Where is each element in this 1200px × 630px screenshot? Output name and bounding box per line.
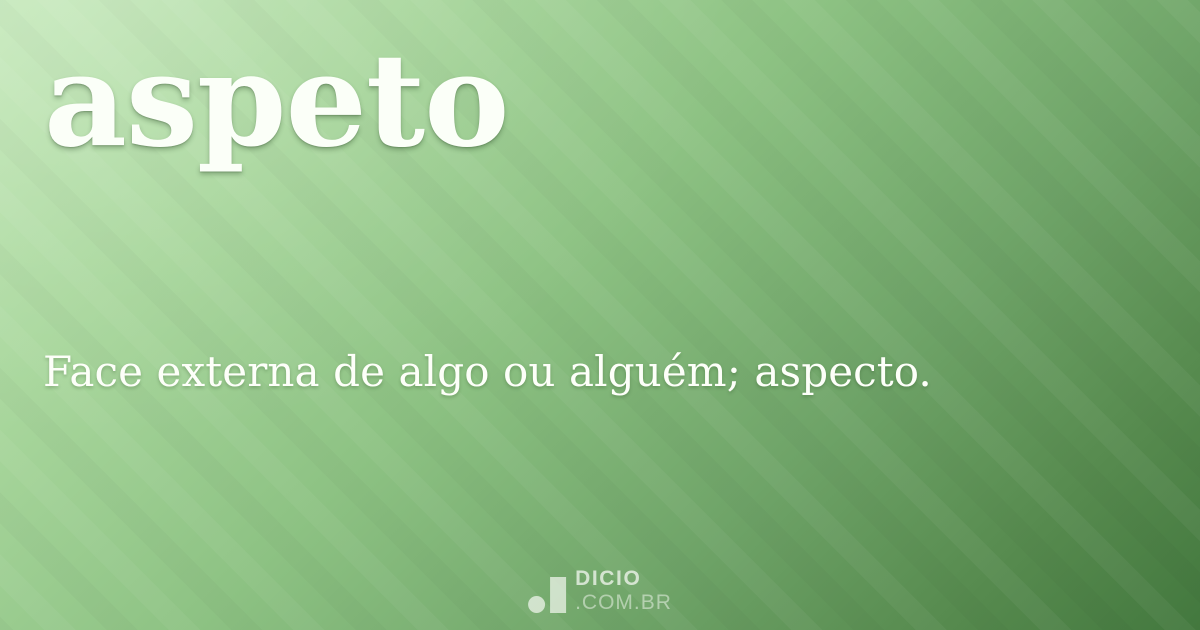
card-content: aspeto Face externa de algo ou alguém; a…	[0, 0, 1200, 630]
dicio-logo: DICIO .COM.BR	[528, 568, 672, 615]
word-title: aspeto	[44, 30, 508, 173]
word-definition: Face externa de algo ou alguém; aspecto.	[43, 346, 932, 399]
bar-icon	[550, 577, 566, 613]
circle-icon	[528, 596, 545, 613]
logo-domain-suffix: .COM.BR	[575, 592, 672, 613]
logo-mark	[528, 571, 566, 615]
logo-text: DICIO .COM.BR	[575, 568, 672, 615]
dictionary-share-card: aspeto Face externa de algo ou alguém; a…	[0, 0, 1200, 630]
logo-brand-name: DICIO	[575, 568, 672, 589]
